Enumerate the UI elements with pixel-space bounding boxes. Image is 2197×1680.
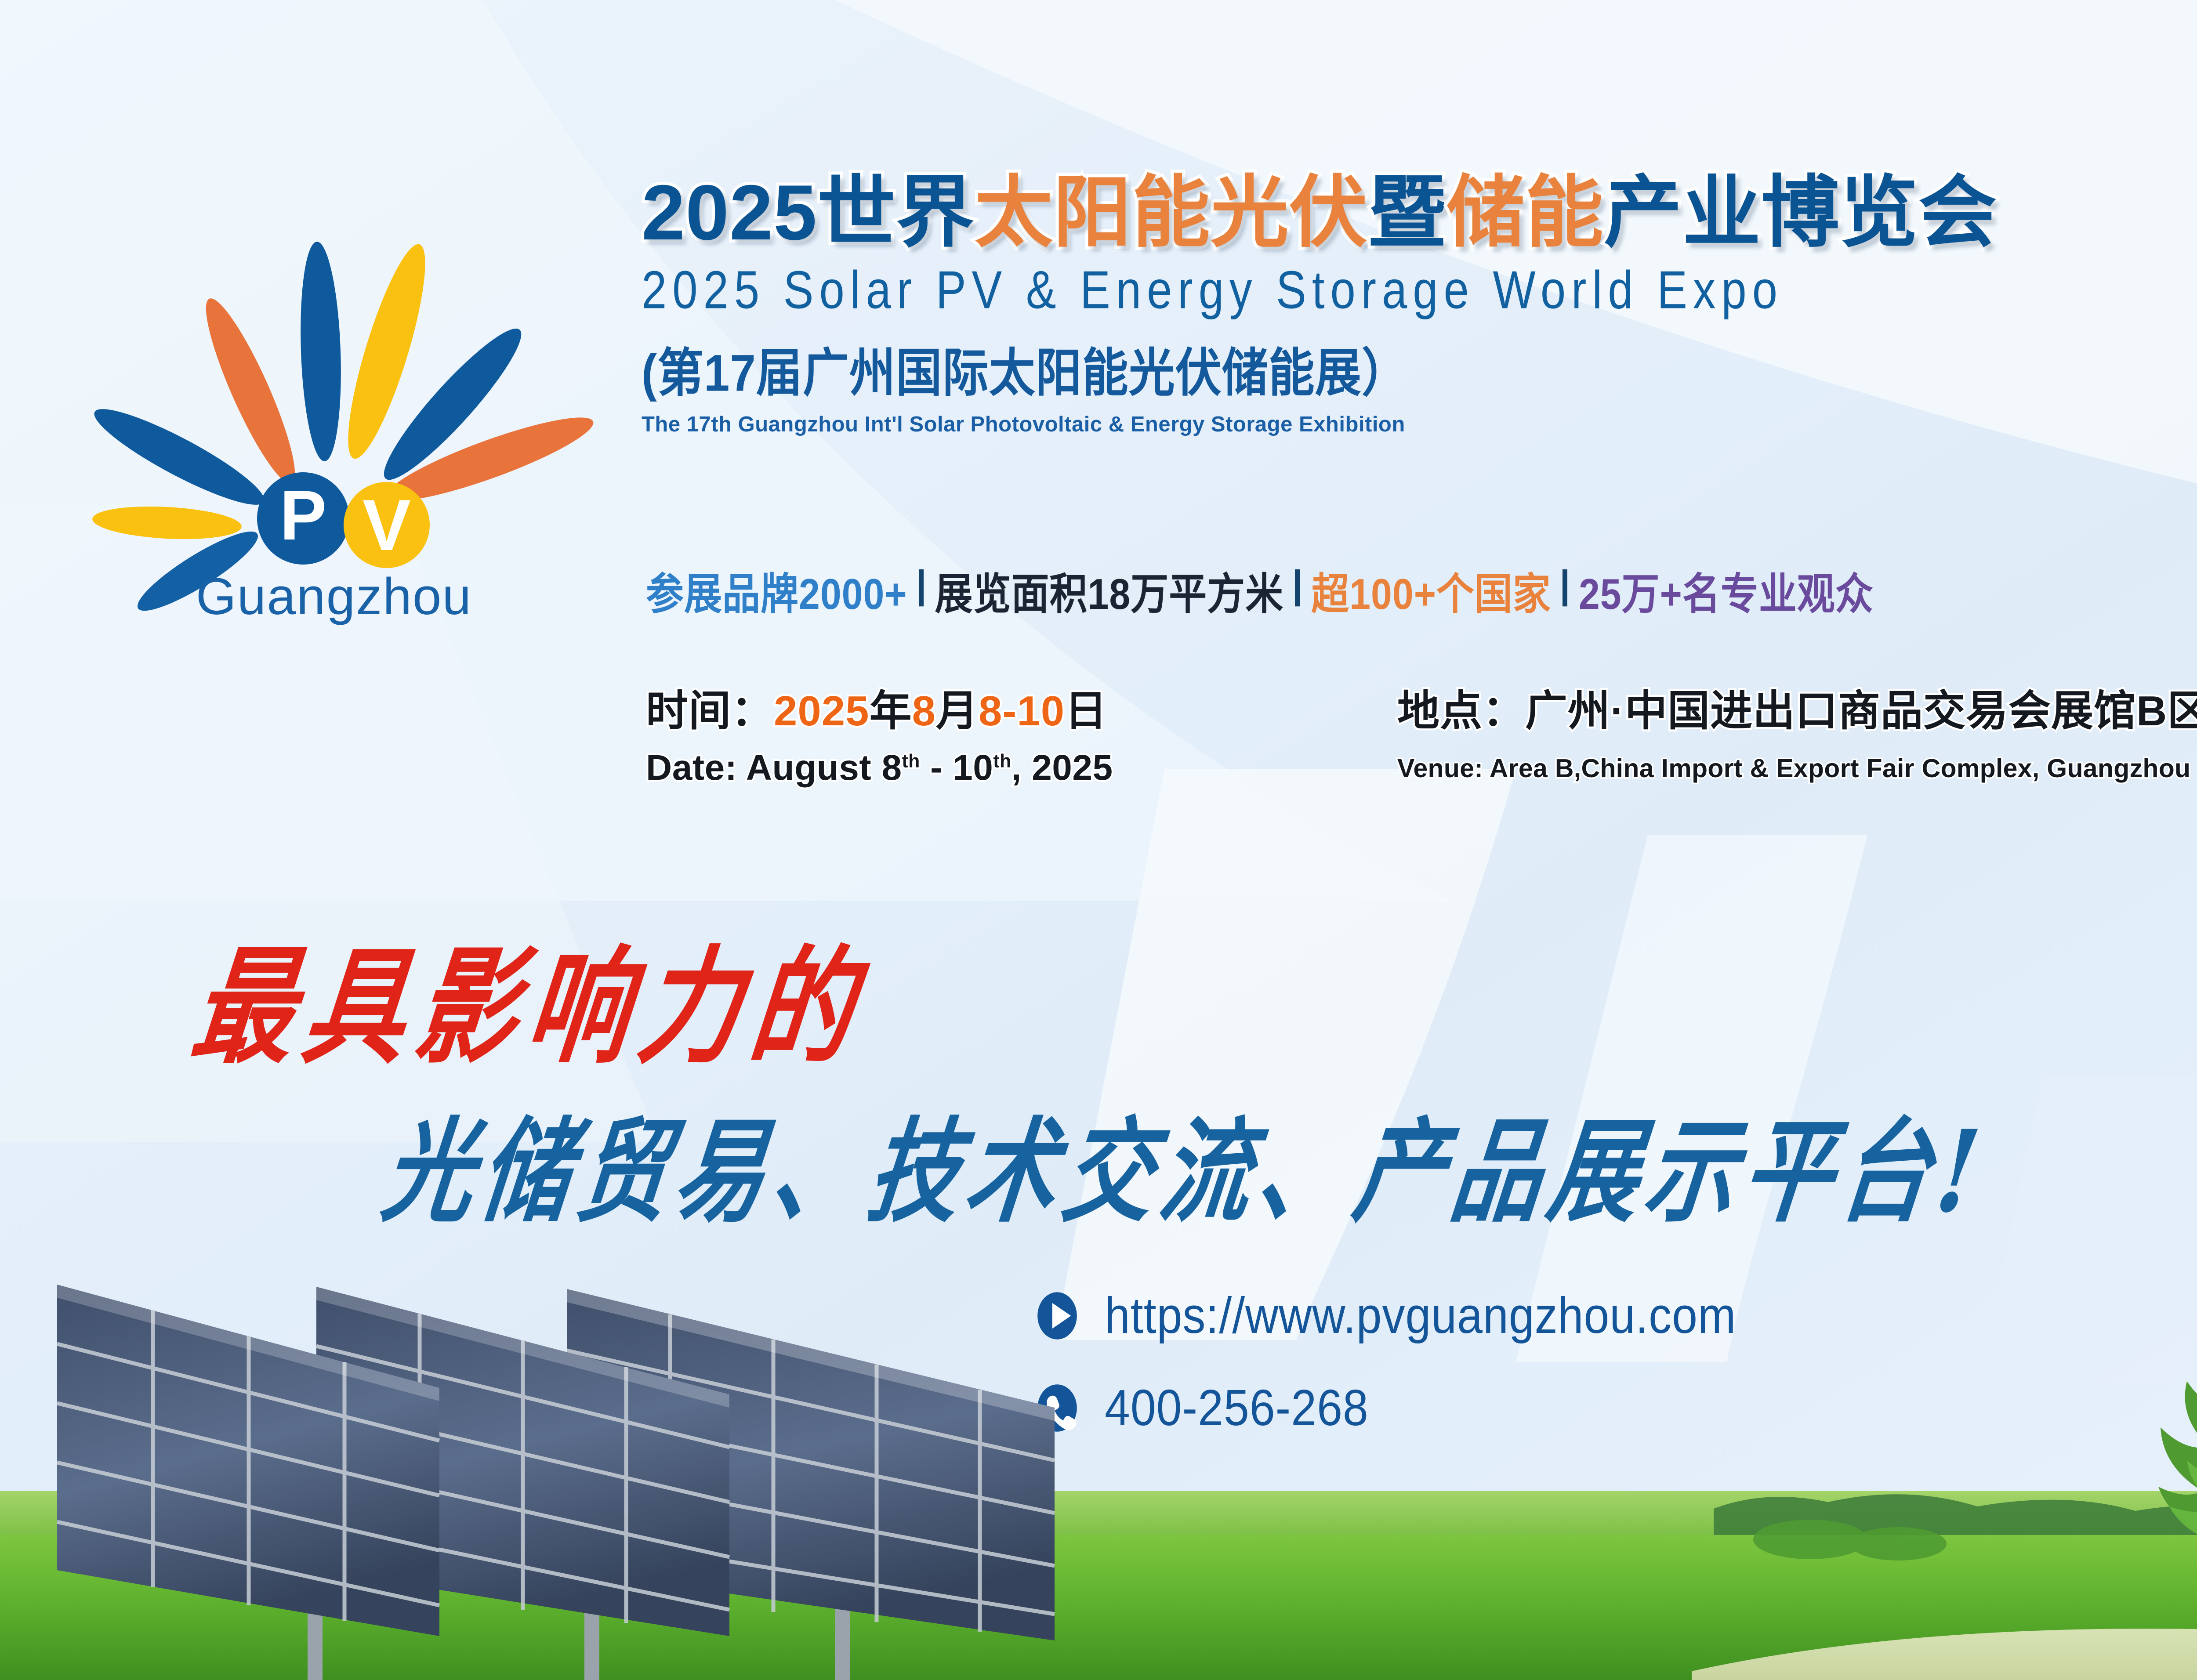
- venue-label-cn: 地点：: [1397, 688, 1525, 735]
- subtitle-en: The 17th Guangzhou Int'l Solar Photovolt…: [642, 412, 2197, 437]
- date-label-cn: 时间：: [646, 688, 774, 735]
- event-venue-en: Venue: Area B,China Import & Export Fair…: [1397, 753, 2197, 783]
- stat-divider: [1295, 569, 1300, 606]
- event-date-cn: 时间：2025年8月8-10日: [646, 677, 1113, 738]
- title-segment-3: 暨: [1368, 169, 1447, 256]
- header-text-block: 2025世界太阳能光伏暨储能产业博览会 2025 Solar PV & Ener…: [642, 171, 2197, 437]
- title-segment-1: 2025世界: [642, 169, 975, 256]
- date-days: 8-10: [979, 688, 1065, 735]
- logo-letter-p: P: [280, 476, 327, 554]
- logo-letter-v: V: [363, 485, 411, 565]
- subtitle-cn: (第17届广州国际太阳能光伏储能展）: [642, 331, 2197, 406]
- title-segment-5: 产业博览会: [1604, 169, 1997, 256]
- stat-visitors: 25万+名专业观众: [1579, 559, 1874, 622]
- date-en-suffix: , 2025: [1011, 748, 1113, 788]
- date-month-unit: 月: [936, 688, 979, 735]
- date-en-ordinal-1: th: [902, 751, 920, 772]
- date-en-prefix: Date: August 8: [646, 748, 902, 788]
- date-month: 8: [912, 688, 936, 735]
- date-day-unit: 日: [1065, 688, 1107, 735]
- event-date-en: Date: August 8th - 10th, 2025: [646, 747, 1113, 789]
- date-year: 2025: [774, 688, 870, 735]
- logo-wordmark: Guangzhou: [196, 568, 472, 626]
- petal-blue-top: [297, 241, 344, 462]
- event-venue-block: 地点：广州·中国进出口商品交易会展馆B区 Venue: Area B,China…: [1397, 677, 2197, 783]
- stat-countries: 超100+个国家: [1311, 559, 1551, 622]
- slogan-line-1: 最具影响力的: [184, 905, 876, 1088]
- slogan-line-2: 光储贸易、技术交流、产品展示平台!: [375, 1081, 1996, 1244]
- date-year-unit: 年: [870, 688, 912, 735]
- bottom-scene: [0, 1263, 2197, 1680]
- main-title-cn: 2025世界太阳能光伏暨储能产业博览会: [642, 171, 2197, 254]
- statistics-strip: 参展品牌2000+展览面积18万平方米超100+个国家25万+名专业观众: [646, 559, 1874, 622]
- stat-divider: [1563, 569, 1567, 606]
- stat-divider: [919, 569, 924, 606]
- event-venue-cn: 地点：广州·中国进出口商品交易会展馆B区: [1397, 677, 2197, 738]
- stat-exhibiting-brands: 参展品牌2000+: [646, 559, 907, 622]
- sunburst-petals: [86, 238, 600, 622]
- title-segment-2: 太阳能光伏: [975, 169, 1368, 256]
- date-en-mid: - 10: [920, 748, 993, 788]
- event-date-block: 时间：2025年8月8-10日 Date: August 8th - 10th,…: [646, 677, 1113, 789]
- event-promo-banner: P V Guangzhou 2025世界太阳能光伏暨储能产业博览会 2025 S…: [0, 0, 2197, 1680]
- title-segment-4: 储能: [1447, 169, 1604, 256]
- stat-exhibition-area: 展览面积18万平方米: [935, 559, 1284, 622]
- date-en-ordinal-2: th: [993, 751, 1011, 772]
- main-title-en: 2025 Solar PV & Energy Storage World Exp…: [642, 261, 2197, 319]
- pv-guangzhou-logo: P V Guangzhou: [66, 185, 571, 637]
- petal-yellow-left: [91, 503, 242, 543]
- venue-value-cn: 广州·中国进出口商品交易会展馆B区: [1525, 688, 2197, 735]
